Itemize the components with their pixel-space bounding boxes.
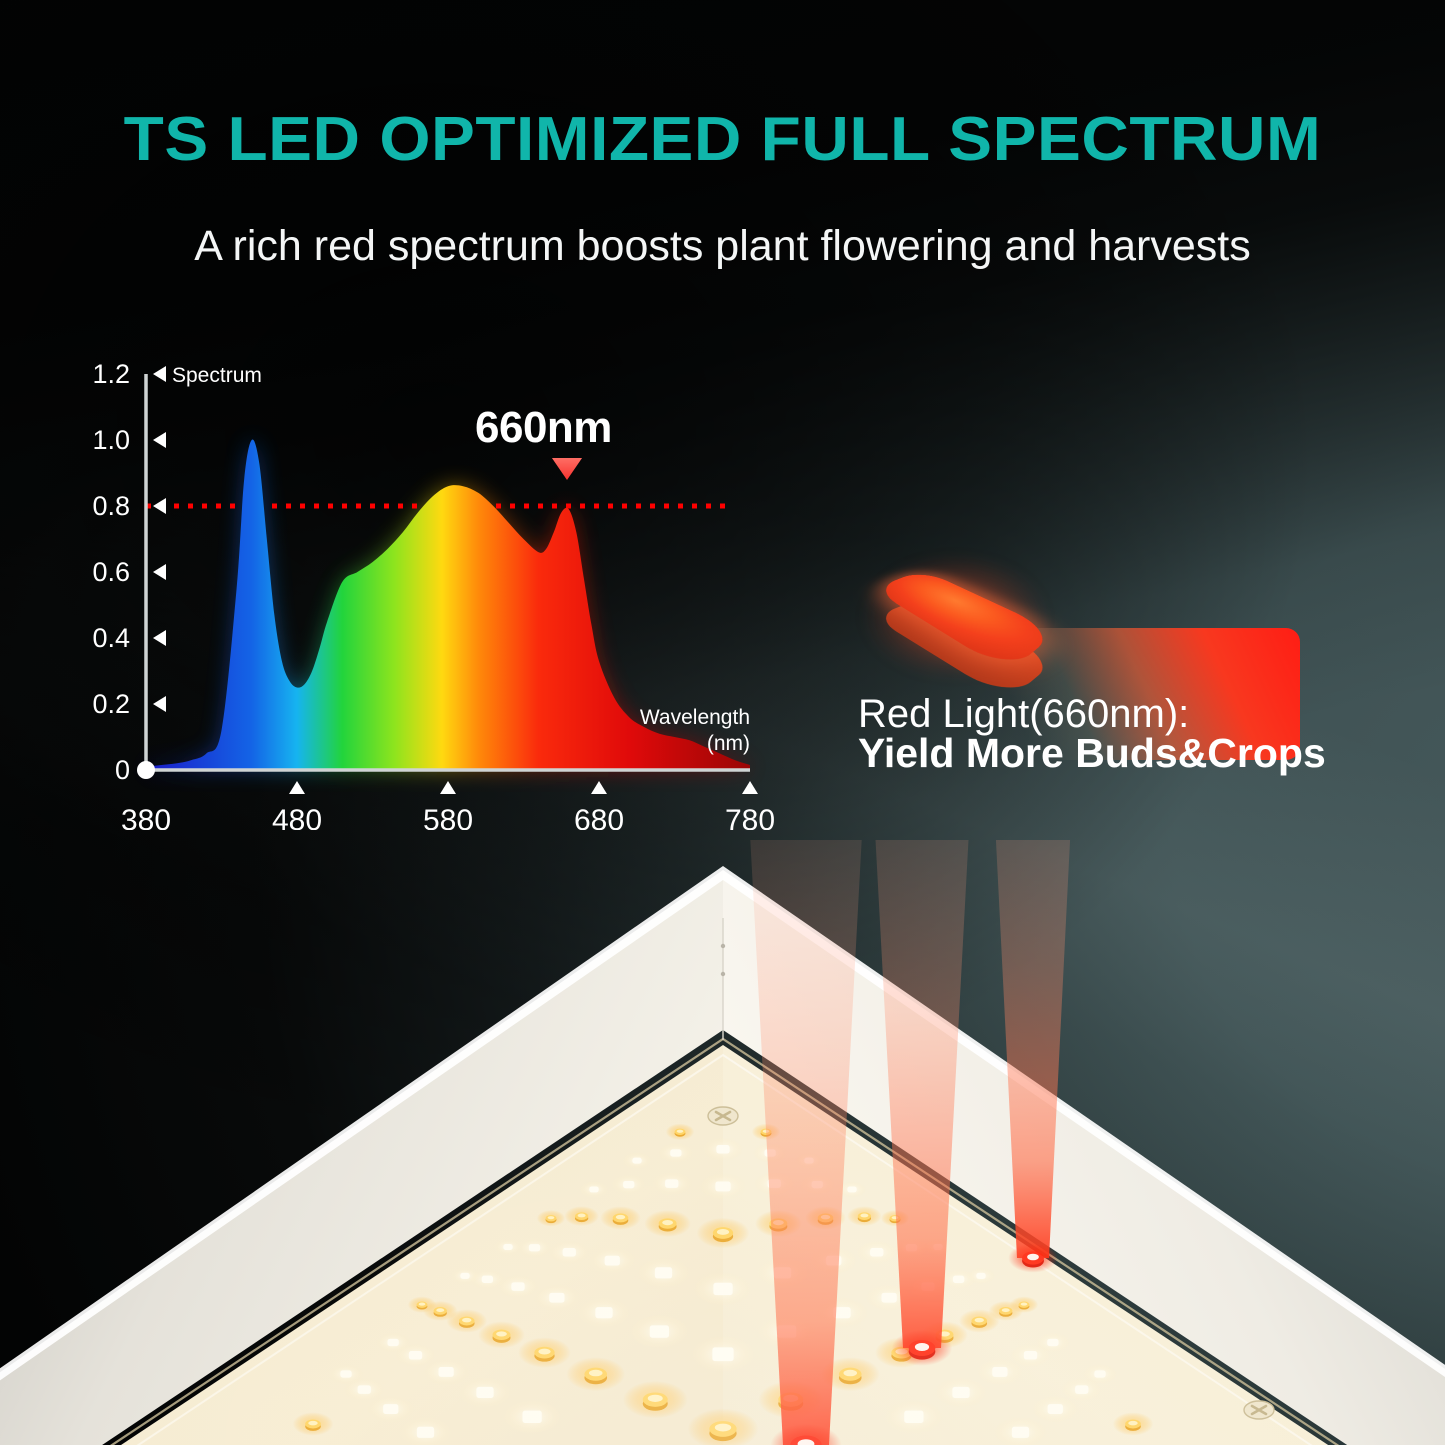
product-infographic: TS LED OPTIMIZED FULL SPECTRUM A rich re… [0,0,1445,1445]
y-tick-marker-icon [153,366,166,382]
y-tick-label: 0.4 [92,623,130,653]
x-tick-label: 580 [423,804,473,830]
y-tick-marker-icon [153,432,166,448]
y-tick-label: 1.2 [92,360,130,389]
x-tick-marker-icon [591,781,607,794]
peak-marker-triangle-icon [552,458,582,480]
x-axis-title-line2: (nm) [707,732,750,755]
panel-screw-top [721,944,725,948]
led-panel-photo [0,840,1445,1445]
page-title: TS LED OPTIMIZED FULL SPECTRUM [0,104,1445,175]
page-subtitle: A rich red spectrum boosts plant floweri… [0,222,1445,271]
red-light-caption-line2: Yield More Buds&Crops [858,730,1326,777]
x-axis-ticks: 380480580680780 [121,781,775,830]
y-tick-label: 0.6 [92,557,130,587]
y-tick-label: 0 [115,755,130,785]
y-tick-marker-icon [153,696,166,712]
x-tick-marker-icon [289,781,305,794]
x-axis-title-line1: Wavelength [640,706,750,729]
spectrum-chart: 1.21.00.80.60.40.20 380480580680780 Spec… [78,360,778,830]
peak-annotation-label: 660nm [475,403,612,453]
y-tick-label: 1.0 [92,425,130,455]
axis-origin-dot [137,761,155,779]
y-axis-ticks: 1.21.00.80.60.40.20 [92,360,166,785]
panel-screw-bottom [721,972,725,976]
x-tick-label: 680 [574,804,624,830]
x-tick-label: 480 [272,804,322,830]
y-tick-label: 0.8 [92,491,130,521]
x-tick-marker-icon [742,781,758,794]
y-tick-label: 0.2 [92,689,130,719]
y-tick-marker-icon [153,630,166,646]
x-tick-label: 380 [121,804,171,830]
x-tick-label: 780 [725,804,775,830]
y-tick-marker-icon [153,498,166,514]
y-tick-marker-icon [153,564,166,580]
y-axis-title: Spectrum [172,364,262,387]
x-tick-marker-icon [440,781,456,794]
